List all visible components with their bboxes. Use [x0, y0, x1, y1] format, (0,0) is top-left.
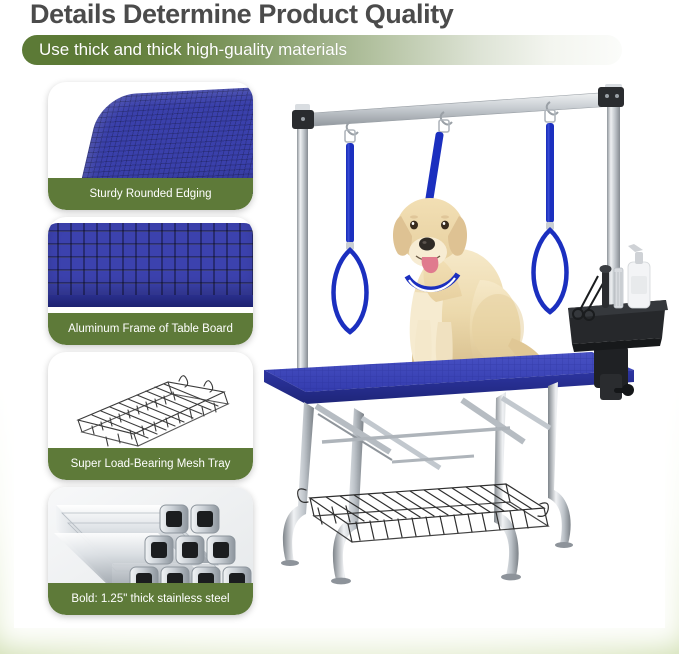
feature-label-3: Bold: 1.25" thick stainless steel [48, 583, 253, 615]
feature-label-text-1: Aluminum Frame of Table Board [68, 323, 233, 335]
noose-right [534, 102, 567, 312]
grooming-table-illustration [262, 70, 674, 600]
subtitle-text: Use thick and thick high-guality materia… [39, 40, 347, 60]
infographic-page: Details Determine Product Quality Use th… [0, 0, 679, 654]
feature-card-steel-tubes[interactable]: Bold: 1.25" thick stainless steel [48, 487, 253, 615]
feature-label-text-0: Sturdy Rounded Edging [89, 188, 211, 200]
waffle-surface-shape [48, 223, 253, 297]
noose-left [334, 122, 367, 332]
comb [614, 268, 623, 308]
labrador-retriever [393, 198, 544, 373]
feature-label-text-2: Super Load-Bearing Mesh Tray [71, 458, 231, 470]
aluminum-rail-shape [48, 295, 253, 307]
feature-card-mesh-tray[interactable]: Super Load-Bearing Mesh Tray [48, 352, 253, 480]
feature-label-text-3: Bold: 1.25" thick stainless steel [71, 593, 229, 605]
subtitle-banner: Use thick and thick high-guality materia… [22, 35, 622, 65]
feature-card-sturdy-rounded-edging[interactable]: Sturdy Rounded Edging [48, 82, 253, 210]
feature-label-0: Sturdy Rounded Edging [48, 178, 253, 210]
product-photo-grooming-table [262, 70, 674, 600]
arm-clamp [594, 346, 634, 400]
page-title: Details Determine Product Quality [30, 0, 453, 30]
table-frame [281, 382, 573, 584]
feature-label-1: Aluminum Frame of Table Board [48, 313, 253, 345]
feature-label-2: Super Load-Bearing Mesh Tray [48, 448, 253, 480]
feature-card-aluminum-frame[interactable]: Aluminum Frame of Table Board [48, 217, 253, 345]
